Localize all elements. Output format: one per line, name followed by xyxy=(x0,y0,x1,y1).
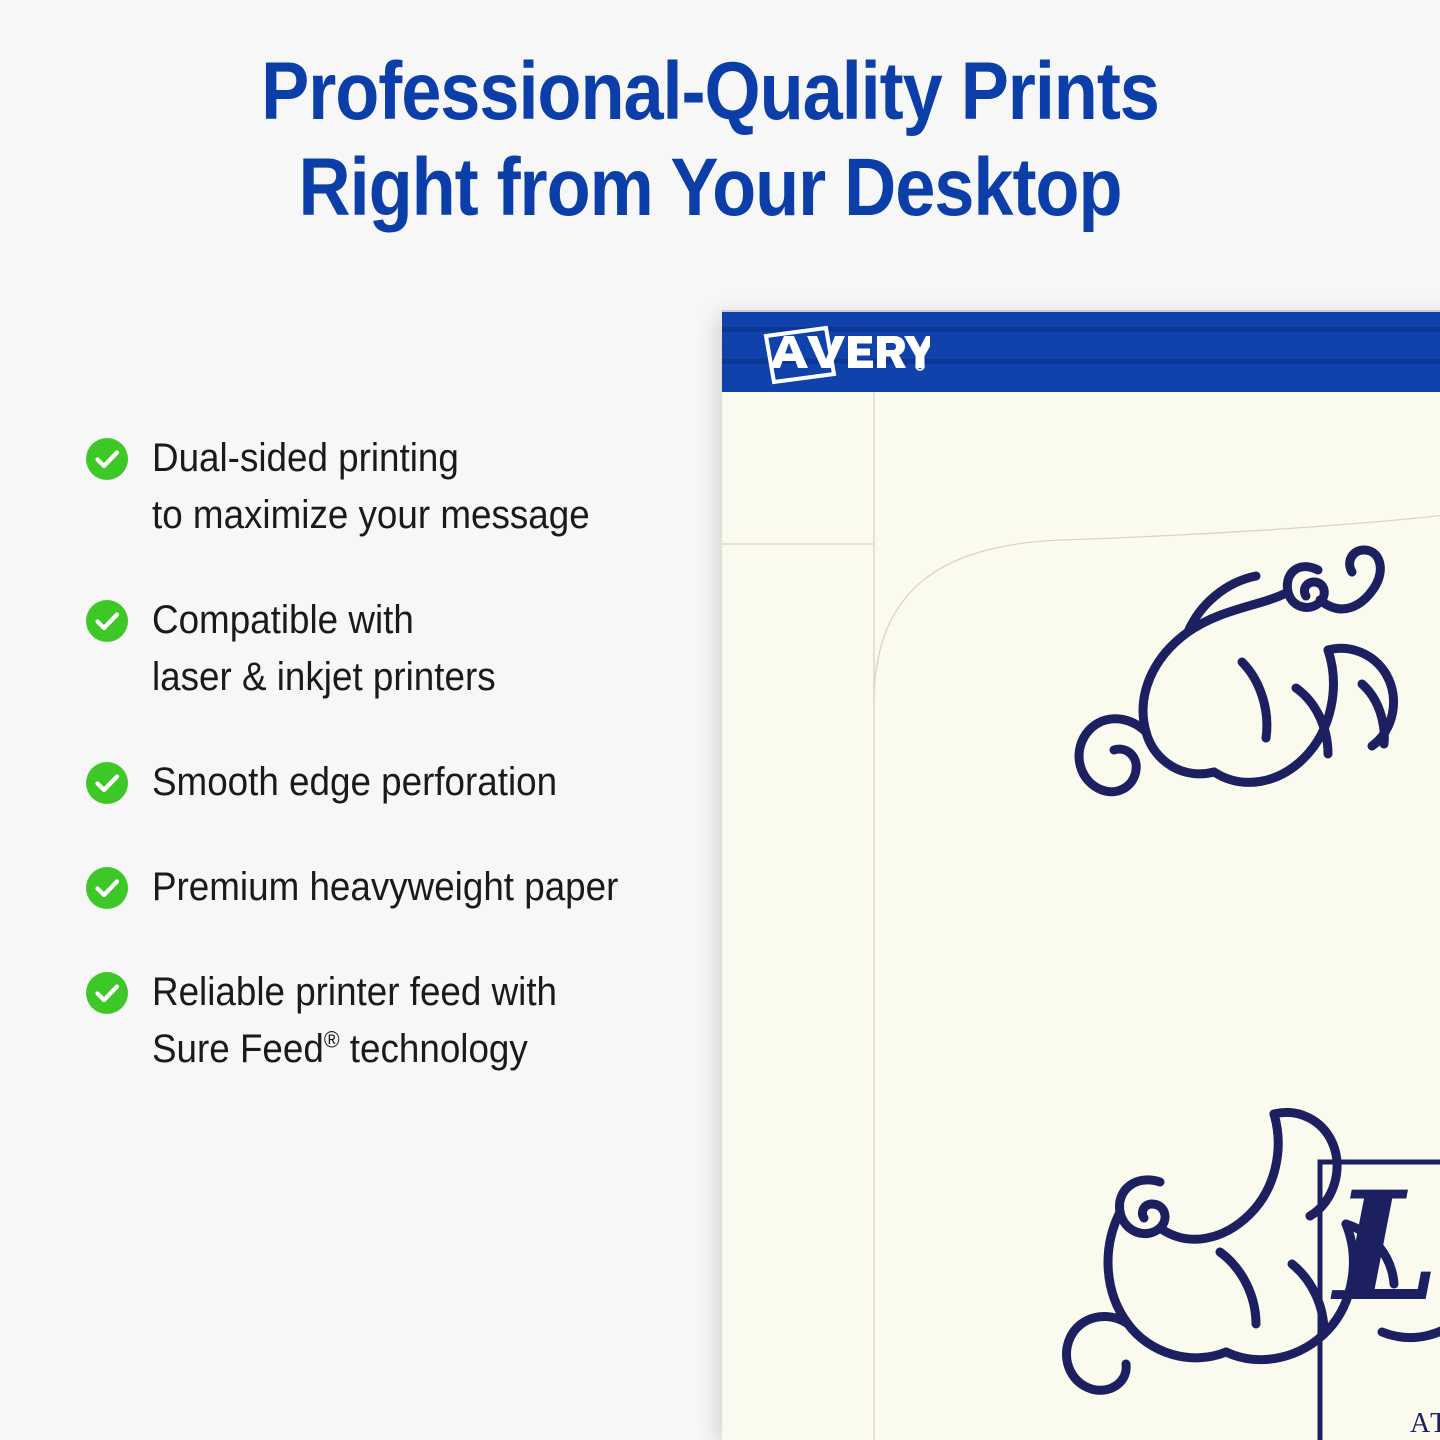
perforation-guides xyxy=(722,392,1440,1440)
feature-list: Dual-sided printing to maximize your mes… xyxy=(86,430,726,1078)
check-circle-icon xyxy=(86,438,128,480)
headline-line-2: Right from Your Desktop xyxy=(85,140,1335,236)
list-item: Compatible with laser & inkjet printers xyxy=(86,592,726,706)
list-item: Smooth edge perforation xyxy=(86,754,726,811)
certificate-script-letter: Le xyxy=(1334,1172,1440,1322)
headline-line-1: Professional-Quality Prints xyxy=(85,44,1335,140)
certificate-subtitle: AT xyxy=(1410,1408,1440,1440)
page-title: Professional-Quality Prints Right from Y… xyxy=(85,44,1335,236)
feature-label: Compatible with laser & inkjet printers xyxy=(152,592,496,706)
check-circle-icon xyxy=(86,972,128,1014)
list-item: Premium heavyweight paper xyxy=(86,859,726,916)
feature-label: Premium heavyweight paper xyxy=(152,859,618,916)
feature-label: Smooth edge perforation xyxy=(152,754,557,811)
check-circle-icon xyxy=(86,762,128,804)
feature-label: Dual-sided printing to maximize your mes… xyxy=(152,430,590,544)
avery-brand-banner: R xyxy=(722,310,1440,392)
feature-label-tail: technology xyxy=(340,1027,528,1071)
ornament-flourish-top xyxy=(1079,550,1393,792)
registered-mark: ® xyxy=(324,1027,340,1053)
svg-text:R: R xyxy=(918,365,922,371)
list-item: Reliable printer feed with Sure Feed® te… xyxy=(86,964,726,1078)
check-circle-icon xyxy=(86,867,128,909)
sheet-artwork xyxy=(722,392,1440,1440)
list-item: Dual-sided printing to maximize your mes… xyxy=(86,430,726,544)
feature-label: Reliable printer feed with Sure Feed® te… xyxy=(152,964,557,1078)
marketing-image: Professional-Quality Prints Right from Y… xyxy=(0,0,1440,1440)
product-sheet-preview: R xyxy=(722,310,1440,1440)
check-circle-icon xyxy=(86,600,128,642)
avery-logo: R xyxy=(760,324,930,386)
